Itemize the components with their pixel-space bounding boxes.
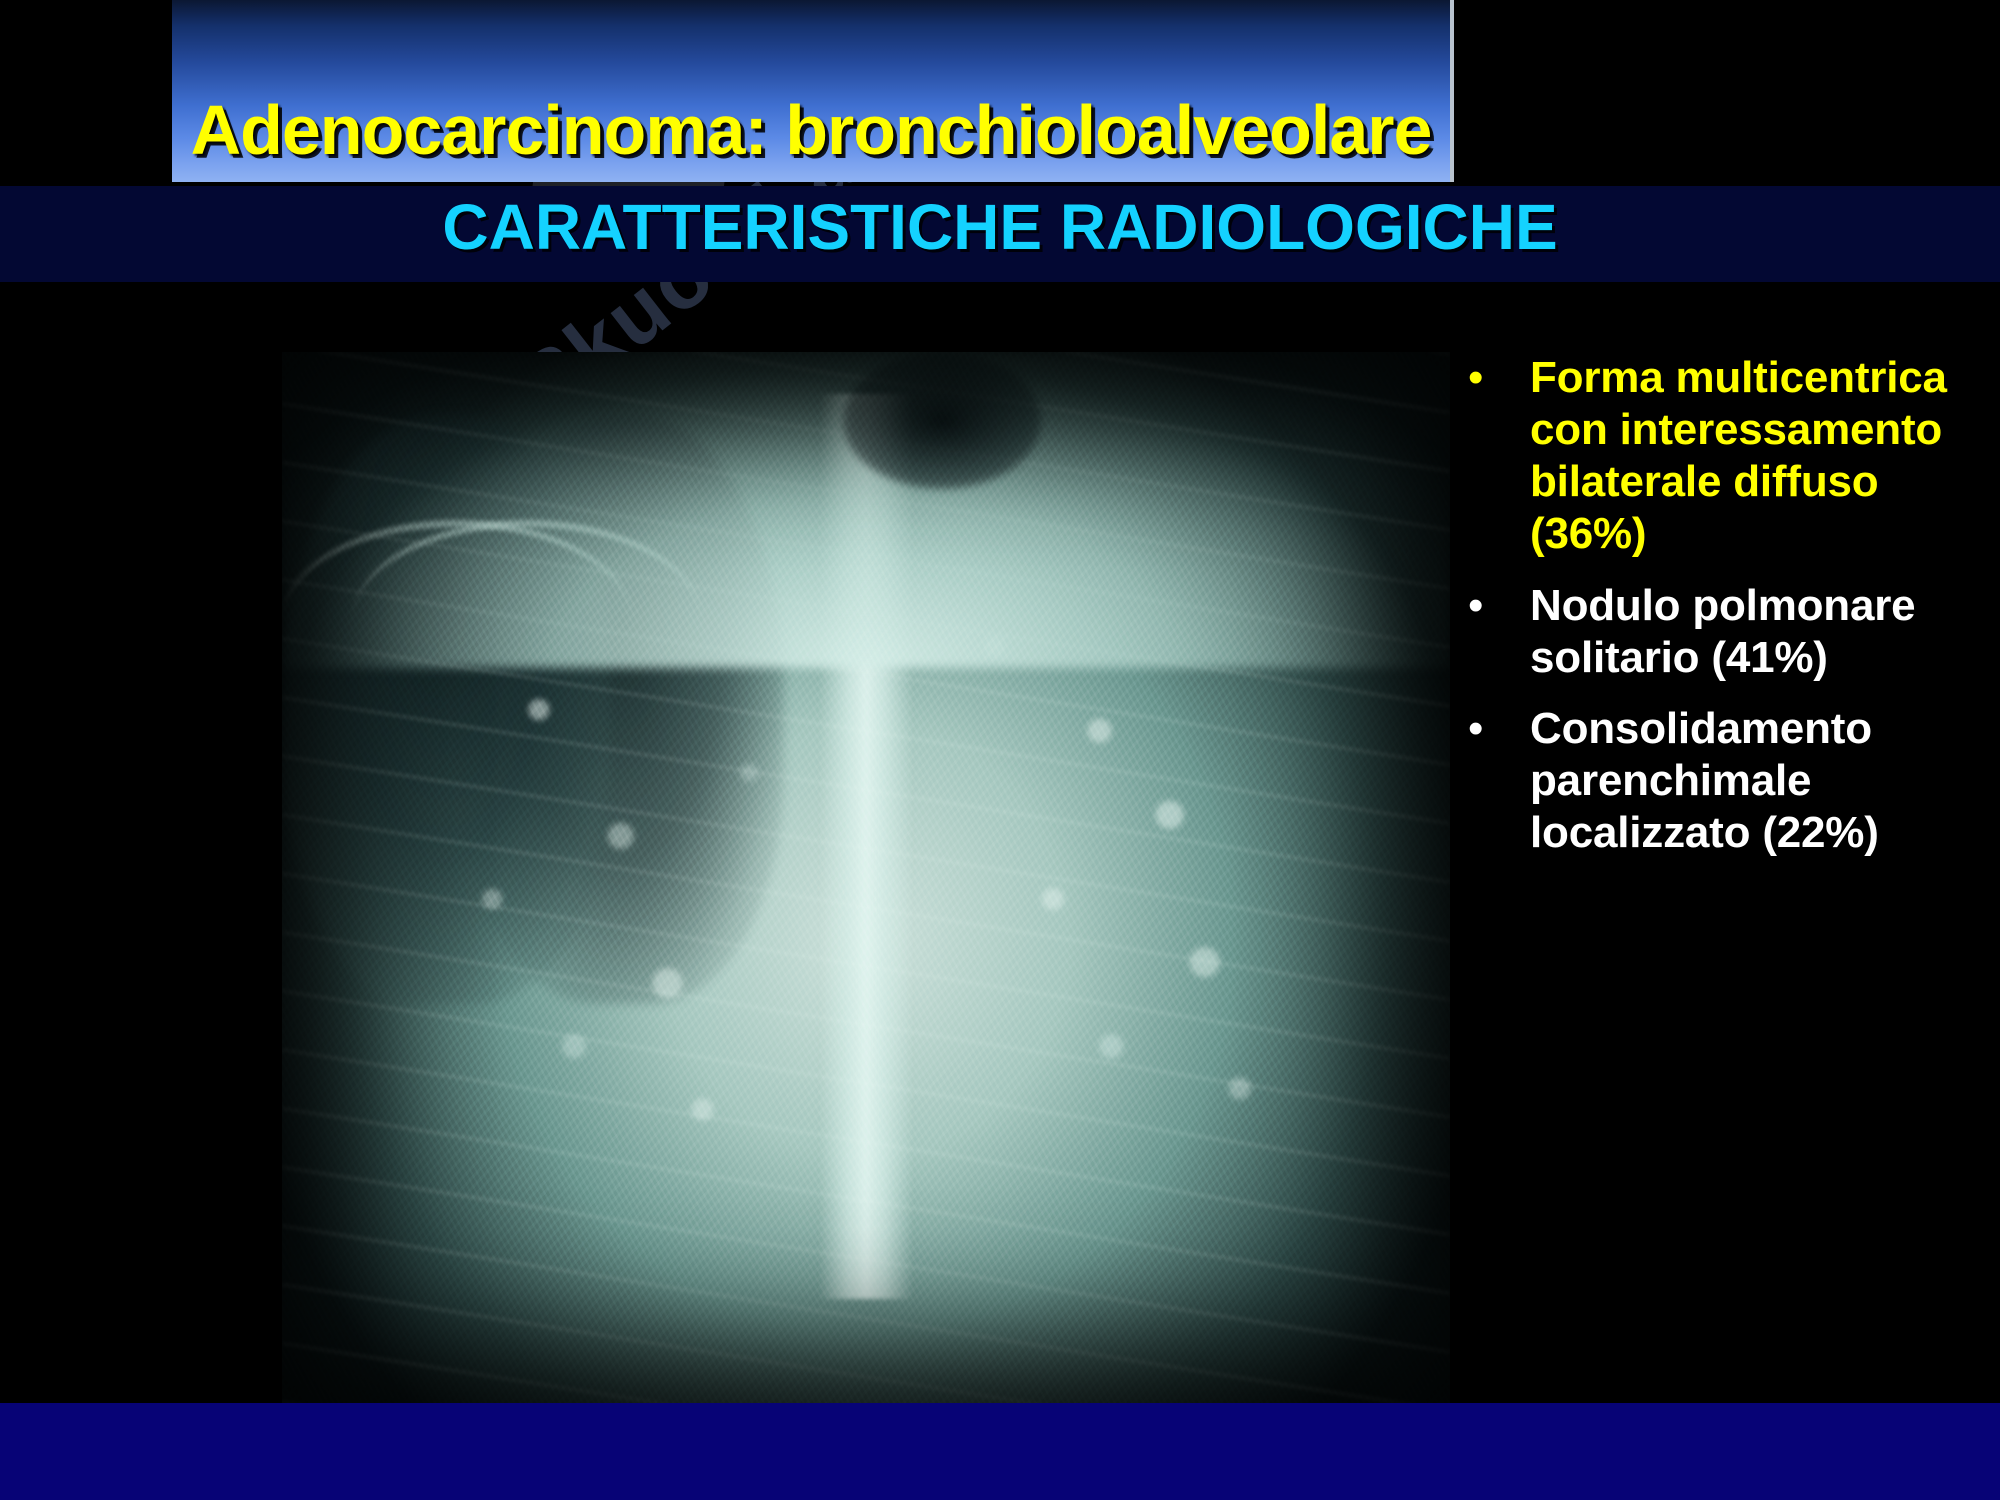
radiologic-features-list: • Forma multicentrica con interessamento… bbox=[1456, 352, 1984, 879]
bullet-marker-icon: • bbox=[1456, 580, 1530, 632]
list-item-label: Nodulo polmonare solitario (41%) bbox=[1530, 580, 1984, 684]
section-subtitle: CARATTERISTICHE RADIOLOGICHE bbox=[0, 190, 2000, 264]
xray-vignette bbox=[282, 352, 1450, 1404]
bullet-marker-icon: • bbox=[1456, 703, 1530, 755]
list-item-label: Forma multicentrica con interessamento b… bbox=[1530, 352, 1984, 560]
list-item-label: Consolidamento parenchimale localizzato … bbox=[1530, 703, 1984, 859]
bullet-marker-icon: • bbox=[1456, 352, 1530, 404]
list-item: • Forma multicentrica con interessamento… bbox=[1456, 352, 1984, 560]
slide-root: ✦ SkuolaLab Adenocarcinoma: bronchioloal… bbox=[0, 0, 2000, 1500]
title-band: Adenocarcinoma: bronchioloalveolare bbox=[172, 0, 1454, 182]
page-title: Adenocarcinoma: bronchioloalveolare bbox=[172, 90, 1450, 170]
chest-xray-image bbox=[282, 352, 1450, 1404]
subtitle-band: CARATTERISTICHE RADIOLOGICHE bbox=[0, 186, 2000, 282]
footer-band bbox=[0, 1403, 2000, 1500]
list-item: • Consolidamento parenchimale localizzat… bbox=[1456, 703, 1984, 859]
list-item: • Nodulo polmonare solitario (41%) bbox=[1456, 580, 1984, 684]
